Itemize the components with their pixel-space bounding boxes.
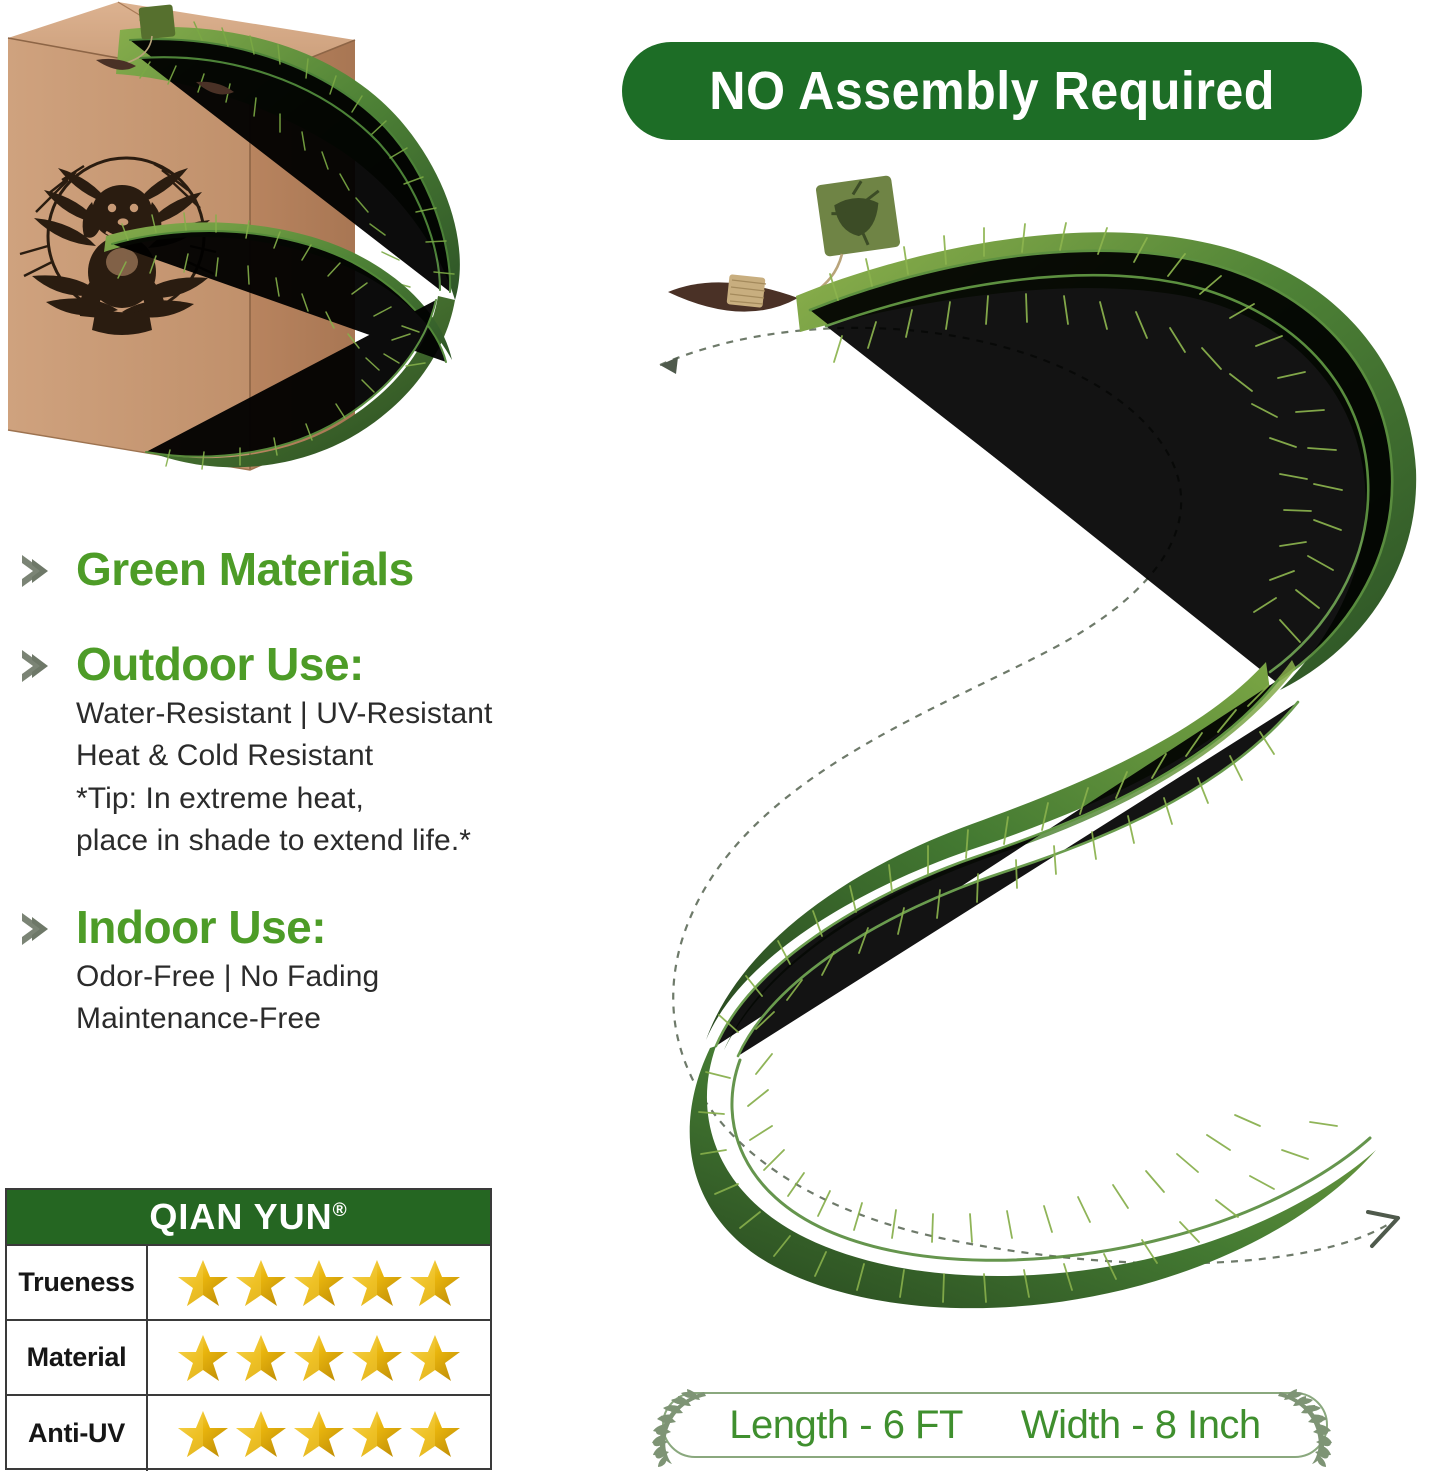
table-row: Trueness	[7, 1246, 490, 1321]
brand-header: QIAN YUN®	[7, 1190, 490, 1246]
star-icon	[409, 1408, 461, 1460]
feature-body: Water-Resistant | UV-Resistant Heat & Co…	[76, 689, 574, 863]
package-box-photo	[0, 0, 500, 500]
table-row: Anti-UV	[7, 1396, 490, 1471]
width-label: Width - 8 Inch	[1021, 1403, 1261, 1448]
feature-line: place in shade to extend life.*	[76, 820, 574, 863]
rating-label: Trueness	[7, 1246, 148, 1319]
no-assembly-banner: NO Assembly Required	[622, 42, 1362, 140]
star-icon	[351, 1257, 403, 1309]
feature-line: Maintenance-Free	[76, 998, 574, 1041]
star-icon	[177, 1408, 229, 1460]
double-chevron-right-icon	[18, 909, 52, 949]
feature-heading: Indoor Use:	[76, 903, 574, 952]
star-icon	[293, 1332, 345, 1384]
star-icon	[293, 1408, 345, 1460]
star-icon	[177, 1332, 229, 1384]
feature-list: Green Materials Outdoor Use: Water-Resis…	[14, 545, 574, 1047]
garland-segment-middle	[706, 660, 1298, 1056]
feature-line: Water-Resistant | UV-Resistant	[76, 693, 574, 736]
star-icon	[293, 1257, 345, 1309]
rating-stars	[148, 1321, 490, 1394]
star-icon	[235, 1408, 287, 1460]
feature-item-green-materials: Green Materials	[14, 545, 574, 594]
star-icon	[409, 1332, 461, 1384]
feature-heading: Outdoor Use:	[76, 640, 574, 689]
laurel-branch-icon	[646, 1386, 726, 1466]
feature-body: Odor-Free | No Fading Maintenance-Free	[76, 952, 574, 1041]
banner-label: NO Assembly Required	[709, 60, 1275, 122]
star-icon	[409, 1257, 461, 1309]
dimensions-banner: Length - 6 FT Width - 8 Inch	[662, 1392, 1328, 1458]
star-icon	[235, 1257, 287, 1309]
star-icon	[177, 1257, 229, 1309]
garland-segment-lower	[690, 1046, 1376, 1308]
star-icon	[351, 1408, 403, 1460]
star-icon	[351, 1332, 403, 1384]
double-chevron-right-icon	[18, 646, 52, 686]
registered-mark: ®	[333, 1200, 348, 1221]
brand-rating-table: QIAN YUN® Trueness Material Ant	[5, 1188, 492, 1470]
feature-line: Odor-Free | No Fading	[76, 956, 574, 999]
table-row: Material	[7, 1321, 490, 1396]
garland-product-photo	[620, 150, 1440, 1400]
rating-label: Material	[7, 1321, 148, 1394]
rating-label: Anti-UV	[7, 1396, 148, 1471]
feature-line: Heat & Cold Resistant	[76, 735, 574, 778]
double-chevron-right-icon	[18, 551, 52, 591]
brand-name: QIAN YUN®	[149, 1196, 347, 1238]
feature-line: *Tip: In extreme heat,	[76, 778, 574, 821]
garland-segment-upper	[796, 223, 1416, 690]
star-icon	[235, 1332, 287, 1384]
laurel-branch-icon	[1258, 1386, 1338, 1466]
feature-heading: Green Materials	[76, 545, 574, 594]
feature-item-outdoor-use: Outdoor Use: Water-Resistant | UV-Resist…	[14, 640, 574, 863]
infographic-canvas: NO Assembly Required	[0, 0, 1445, 1476]
rating-stars	[148, 1396, 490, 1471]
feature-item-indoor-use: Indoor Use: Odor-Free | No Fading Mainte…	[14, 903, 574, 1041]
rating-stars	[148, 1246, 490, 1319]
length-label: Length - 6 FT	[729, 1403, 963, 1448]
